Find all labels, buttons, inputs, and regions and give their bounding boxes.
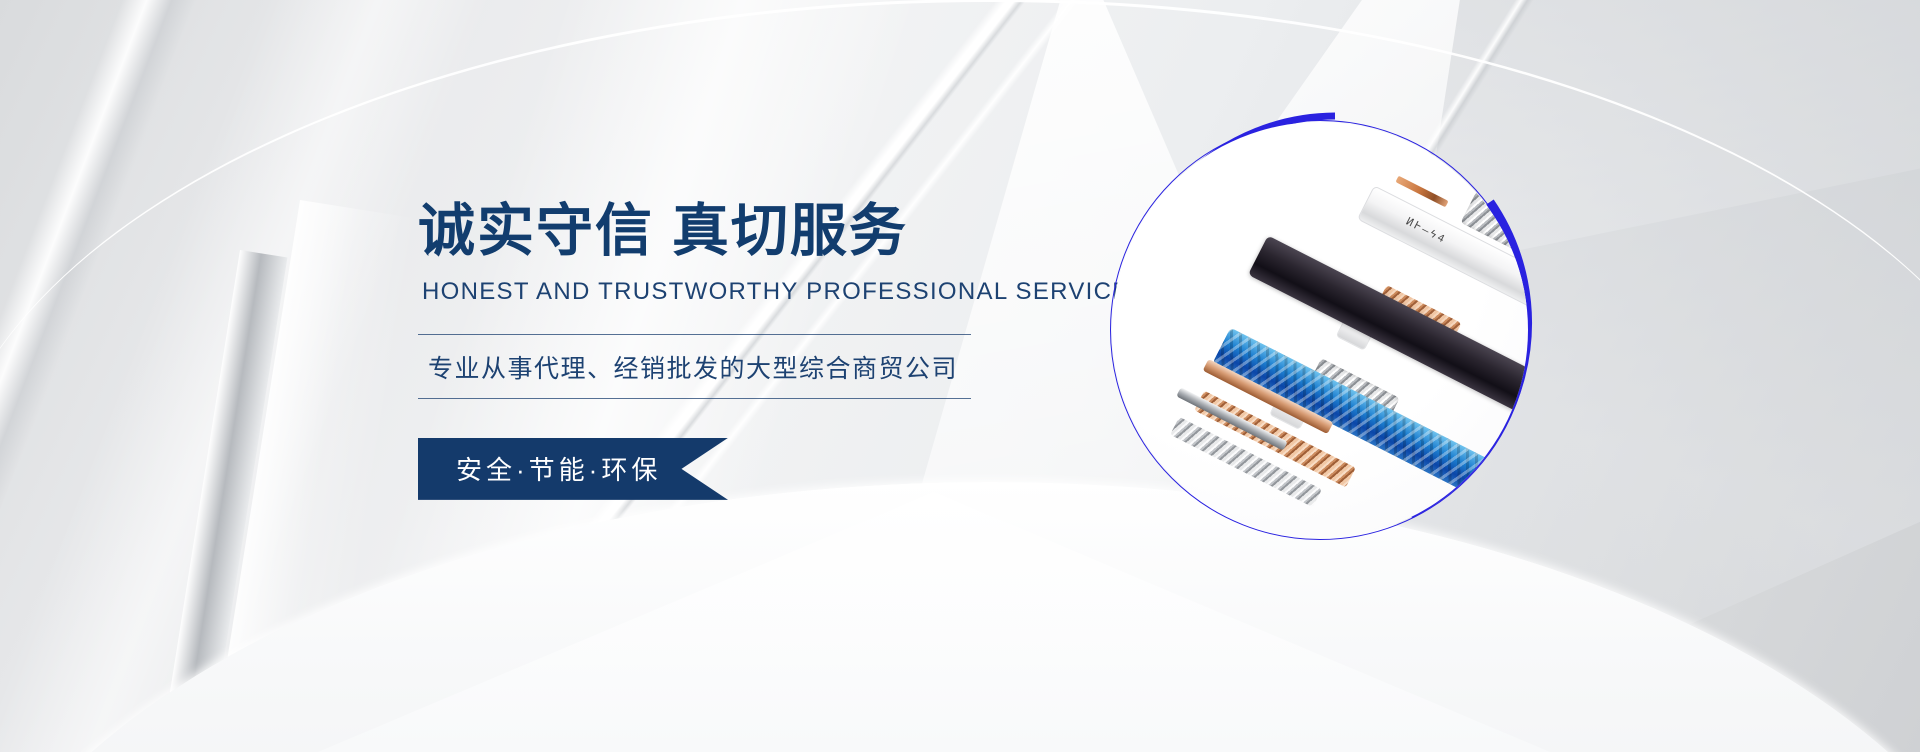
divider-bottom bbox=[418, 398, 971, 399]
feature-badge-label: 安全·节能·环保 bbox=[418, 438, 728, 500]
cable-print-text: ͶͰ—ϟ4 bbox=[1403, 215, 1448, 247]
banner-subtitle-english: HONEST AND TRUSTWORTHY PROFESSIONAL SERV… bbox=[422, 278, 1058, 306]
banner-subtitle-chinese: 专业从事代理、经销批发的大型综合商贸公司 bbox=[418, 335, 1058, 398]
hero-banner: 诚实守信 真切服务 HONEST AND TRUSTWORTHY PROFESS… bbox=[0, 0, 1920, 752]
divider-top bbox=[418, 334, 971, 335]
medallion-photo: ͶͰ—ϟ4 bbox=[1112, 122, 1528, 538]
banner-text-block: 诚实守信 真切服务 HONEST AND TRUSTWORTHY PROFESS… bbox=[418, 200, 1058, 399]
banner-title: 诚实守信 真切服务 bbox=[418, 200, 1058, 264]
product-medallion: ͶͰ—ϟ4 bbox=[1110, 120, 1530, 540]
cable-composition: ͶͰ—ϟ4 bbox=[1112, 122, 1528, 538]
